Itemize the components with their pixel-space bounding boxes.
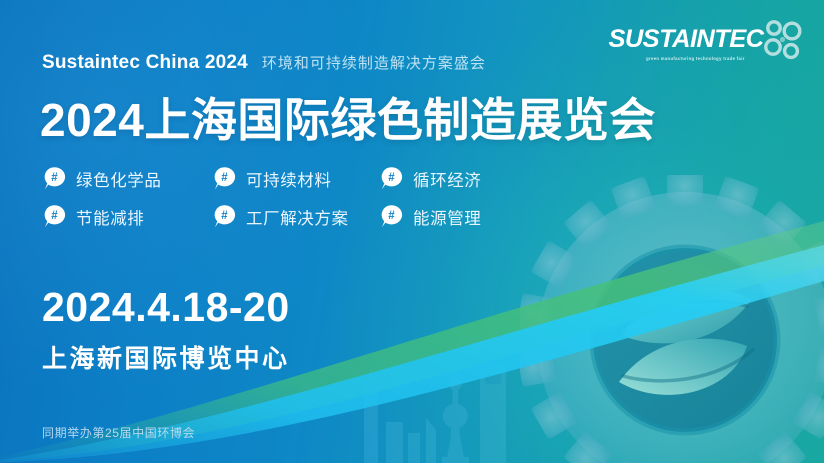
hash-bubble-icon: # (42, 204, 67, 229)
page-title: 2024上海国际绿色制造展览会 (40, 93, 656, 147)
svg-text:#: # (51, 210, 58, 222)
topic-tag[interactable]: # 节能减排 (42, 204, 212, 229)
topic-tag[interactable]: # 工厂解决方案 (212, 204, 379, 229)
topic-tag-label: 绿色化学品 (76, 167, 162, 191)
event-banner: SUSTAINTEC green manufacturing technolog… (0, 0, 824, 463)
topic-tag-label: 节能减排 (76, 205, 144, 229)
topic-tag[interactable]: # 绿色化学品 (42, 166, 212, 191)
hash-bubble-icon: # (379, 204, 404, 229)
event-footnote: 同期举办第25届中国环博会 (42, 424, 195, 441)
svg-text:#: # (388, 172, 395, 184)
topic-tag-label: 循环经济 (413, 167, 481, 191)
hash-bubble-icon: # (212, 166, 237, 191)
hash-bubble-icon: # (42, 166, 67, 191)
circles-cluster-icon (760, 18, 806, 64)
topic-tag[interactable]: # 循环经济 (379, 166, 481, 191)
svg-text:#: # (221, 172, 228, 184)
topic-tag-row: # 绿色化学品 # 可持续材料 # (42, 166, 512, 191)
topic-tag-label: 能源管理 (413, 205, 481, 229)
topic-tag[interactable]: # 能源管理 (379, 204, 481, 229)
topic-tag[interactable]: # 可持续材料 (212, 166, 379, 191)
topic-tag-label: 工厂解决方案 (246, 205, 349, 229)
sustaintec-logo[interactable]: SUSTAINTEC green manufacturing technolog… (610, 20, 806, 68)
svg-text:#: # (51, 172, 58, 184)
topic-tag-list: # 绿色化学品 # 可持续材料 # (42, 166, 512, 242)
topic-tag-label: 可持续材料 (246, 167, 332, 191)
event-venue: 上海新国际博览中心 (42, 347, 290, 372)
hash-bubble-icon: # (379, 166, 404, 191)
logo-wordmark: SUSTAINTEC (609, 27, 764, 52)
svg-text:#: # (388, 210, 395, 222)
eyebrow-line: Sustaintec China 2024 环境和可持续制造解决方案盛会 (42, 52, 486, 74)
event-date: 2024.4.18-20 (42, 287, 290, 328)
eyebrow-english: Sustaintec China 2024 (42, 52, 248, 74)
topic-tag-row: # 节能减排 # 工厂解决方案 # (42, 204, 512, 229)
hash-bubble-icon: # (212, 204, 237, 229)
svg-text:#: # (221, 210, 228, 222)
logo-text-block: SUSTAINTEC green manufacturing technolog… (610, 27, 762, 61)
eyebrow-chinese: 环境和可持续制造解决方案盛会 (262, 52, 486, 73)
logo-tagline: green manufacturing technology trade fai… (646, 56, 745, 61)
